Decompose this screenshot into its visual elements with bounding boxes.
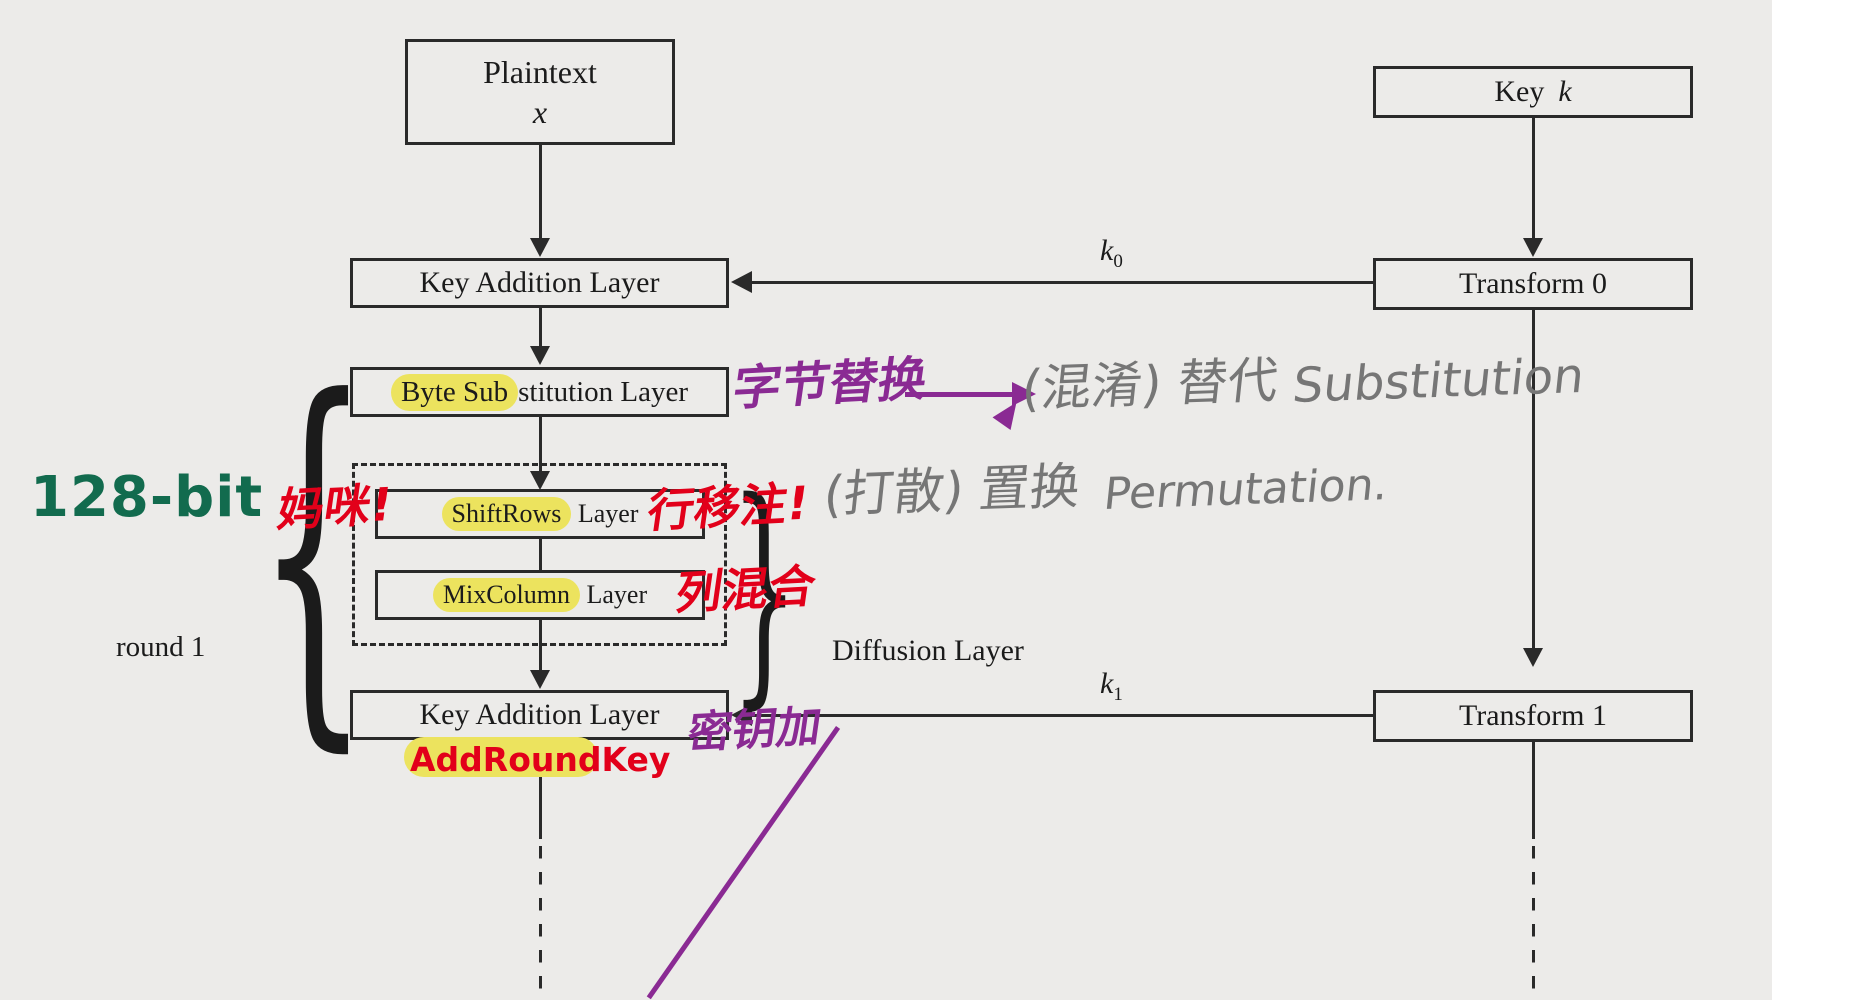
connector-k1 [752,714,1373,717]
plaintext-label: Plaintext [483,52,597,92]
box-transform-0: Transform 0 [1373,258,1693,310]
arrowhead-transform0 [1523,238,1543,257]
annotation-substitution-en: Substitution [1290,352,1586,410]
annotation-mami-text: 妈咪! [274,477,396,537]
annotation-key-add-cn: 密钥加 [685,705,824,756]
label-k1: k1 [1100,667,1123,706]
connector-key-to-transform0 [1532,118,1535,240]
annotation-addroundkey-text: AddRoundKey [410,740,670,779]
connector-shiftrows-to-mixcolumn [539,539,542,570]
box-key-addition-layer-1: Key Addition Layer [350,258,729,308]
plaintext-symbol: x [533,92,547,132]
byte-substitution-text: Byte Substitution Layer [391,376,688,409]
dots-left-column [539,820,542,1000]
box-key: Key k [1373,66,1693,118]
transform-1-label: Transform 1 [1459,699,1607,733]
mixcolumn-rest: Layer [580,580,647,609]
annotation-mixcolumn-cn: 列混合 [673,563,819,616]
annotation-shiftrows-cn-text: 行移注! [644,476,812,538]
byte-substitution-rest: stitution Layer [518,376,688,408]
annotation-addroundkey: AddRoundKey [410,743,670,776]
connector-keyadd1-to-bytesub [539,308,542,350]
annotation-byte-sub-cn: 字节替换 [730,355,931,413]
key-label: Key [1494,75,1544,109]
arrowhead-bytesub [530,346,550,365]
purple-arrow-shaft [905,392,1017,397]
dots-right-column [1532,820,1535,1000]
annotation-128-bit-text: 128-bit [30,465,263,530]
connector-plaintext-to-keyadd1 [539,145,542,241]
shiftrows-highlight: ShiftRows [442,497,572,531]
round-1-text: round 1 [116,631,205,663]
key-addition-layer-2-label: Key Addition Layer [420,698,660,732]
box-key-addition-layer-2: Key Addition Layer [350,690,729,740]
mixcolumn-text: MixColumn Layer [433,580,647,610]
annotation-substitution-en-text: Substitution [1290,348,1587,414]
arrowhead-keyadd1 [530,238,550,257]
annotation-permutation-cn: (打散) 置换 [821,461,1082,520]
annotation-permutation-en-text: Permutation. [1101,459,1390,520]
shiftrows-text: ShiftRows Layer [442,499,639,529]
annotation-shiftrows-cn: 行移注! [645,480,812,534]
shiftrows-rest: Layer [571,499,638,528]
transform-0-label: Transform 0 [1459,267,1607,301]
byte-substitution-highlight: Byte Sub [391,374,518,411]
key-addition-layer-1-label: Key Addition Layer [420,266,660,300]
connector-diffusion-to-keyadd2 [539,620,542,675]
brace-round-1: { [256,352,371,752]
arrowhead-k0 [731,271,752,293]
annotation-mami: 妈咪! [275,481,396,533]
diffusion-layer-text: Diffusion Layer [832,634,1024,667]
annotation-128-bit: 128-bit [30,470,263,526]
box-byte-substitution-layer: Byte Substitution Layer [350,367,729,417]
label-round-1: round 1 [116,631,205,664]
mixcolumn-highlight: MixColumn [433,578,580,612]
figure-canvas: Plaintext x Key Addition Layer Byte Subs… [0,0,1856,1000]
box-mixcolumn-layer: MixColumn Layer [375,570,705,620]
box-transform-1: Transform 1 [1373,690,1693,742]
box-plaintext: Plaintext x [405,39,675,145]
annotation-permutation-cn-text: (打散) 置换 [821,457,1083,524]
arrowhead-keyadd2 [530,670,550,689]
annotation-mixcolumn-cn-text: 列混合 [672,559,819,620]
label-k0-subscript: 0 [1113,251,1123,272]
label-k1-subscript: 1 [1113,684,1123,705]
label-k0-base: k [1100,234,1113,267]
label-k1-base: k [1100,667,1113,700]
label-diffusion-layer: Diffusion Layer [832,634,1024,668]
arrowhead-transform1 [1523,648,1543,667]
annotation-permutation-en: Permutation. [1102,463,1390,517]
key-symbol: k [1558,75,1571,109]
annotation-key-add-cn-text: 密钥加 [684,701,824,759]
label-k0: k0 [1100,234,1123,273]
annotation-substitution-cn: (混淆) 替代 [1019,355,1280,414]
connector-k0 [752,281,1373,284]
annotation-byte-sub-cn-text: 字节替换 [729,351,931,417]
annotation-substitution-cn-text: (混淆) 替代 [1019,351,1281,418]
